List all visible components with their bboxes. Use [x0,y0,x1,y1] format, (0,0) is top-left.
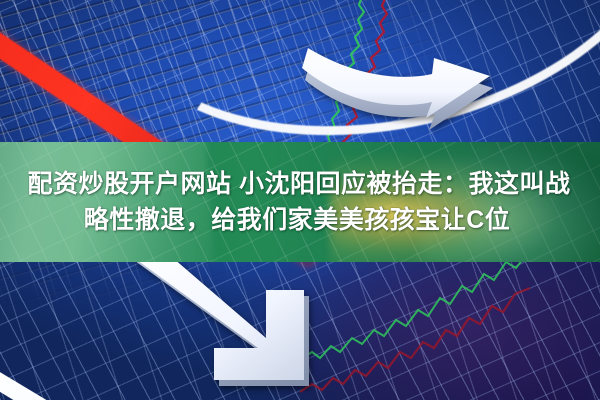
green-headline-band: 配资炒股开户网站 小沈阳回应被抬走：我这叫战 略性撤退，给我们家美美孩孩宝让C位 [0,142,600,262]
headline: 配资炒股开户网站 小沈阳回应被抬走：我这叫战 略性撤退，给我们家美美孩孩宝让C位 [0,142,600,262]
banner-image: 配资炒股开户网站 小沈阳回应被抬走：我这叫战 略性撤退，给我们家美美孩孩宝让C位 [0,0,600,400]
headline-line-2: 略性撤退，给我们家美美孩孩宝让C位 [84,203,517,238]
stock-line-red-lower-icon [300,268,530,400]
headline-line-1: 配资炒股开户网站 小沈阳回应被抬走：我这叫战 [28,167,573,202]
arrow-right-top-icon [300,24,510,134]
arrow-down-right-bottom-icon [118,252,318,392]
